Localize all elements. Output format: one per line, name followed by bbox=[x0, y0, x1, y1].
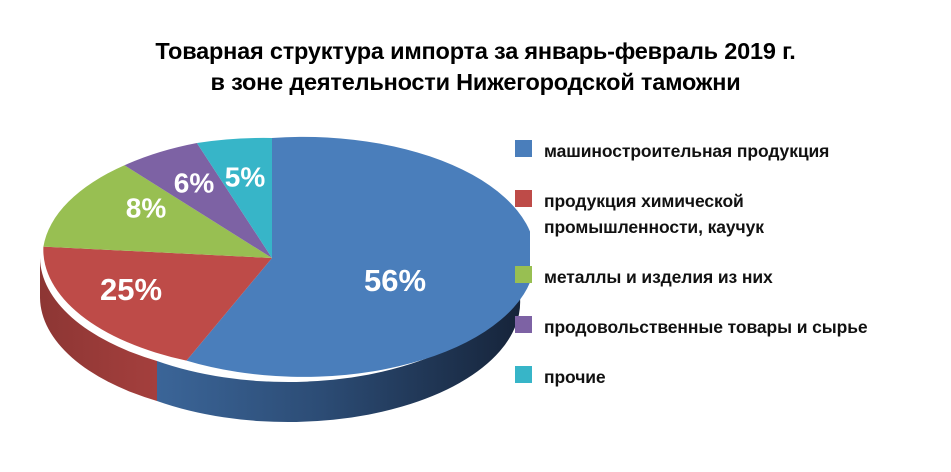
legend-item-other[interactable]: прочие bbox=[515, 364, 945, 390]
legend-swatch-icon bbox=[515, 190, 532, 207]
legend-label: машиностроительная продукция bbox=[544, 138, 829, 164]
pie-plot-area: 56% 25% 8% 6% 5% bbox=[0, 120, 530, 460]
legend-swatch-icon bbox=[515, 366, 532, 383]
legend-swatch-icon bbox=[515, 316, 532, 333]
legend-label: продовольственные товары и сырье bbox=[544, 314, 867, 340]
legend-item-machinery[interactable]: машиностроительная продукция bbox=[515, 138, 945, 164]
slice-label-machinery: 56% bbox=[364, 263, 426, 298]
chart-title-line-1: Товарная структура импорта за январь-фев… bbox=[0, 36, 951, 67]
pie-chart-figure: Товарная структура импорта за январь-фев… bbox=[0, 0, 951, 472]
pie-svg: 56% 25% 8% 6% 5% bbox=[0, 120, 530, 460]
legend-swatch-icon bbox=[515, 140, 532, 157]
chart-title: Товарная структура импорта за январь-фев… bbox=[0, 36, 951, 98]
chart-title-line-2: в зоне деятельности Нижегородской таможн… bbox=[0, 67, 951, 98]
legend-label: прочие bbox=[544, 364, 606, 390]
legend-swatch-icon bbox=[515, 266, 532, 283]
slice-label-food: 6% bbox=[174, 167, 215, 198]
legend-item-food[interactable]: продовольственные товары и сырье bbox=[515, 314, 945, 340]
pie-top-face bbox=[43, 137, 530, 377]
legend-label: металлы и изделия из них bbox=[544, 264, 773, 290]
slice-label-metals: 8% bbox=[126, 192, 167, 223]
chart-legend: машиностроительная продукция продукция х… bbox=[515, 138, 945, 414]
legend-item-chemical[interactable]: продукция химической промышленности, кау… bbox=[515, 188, 945, 240]
legend-item-metals[interactable]: металлы и изделия из них bbox=[515, 264, 945, 290]
slice-label-other: 5% bbox=[225, 161, 266, 192]
legend-label: продукция химической промышленности, кау… bbox=[544, 188, 764, 240]
slice-label-chemical: 25% bbox=[100, 272, 162, 307]
